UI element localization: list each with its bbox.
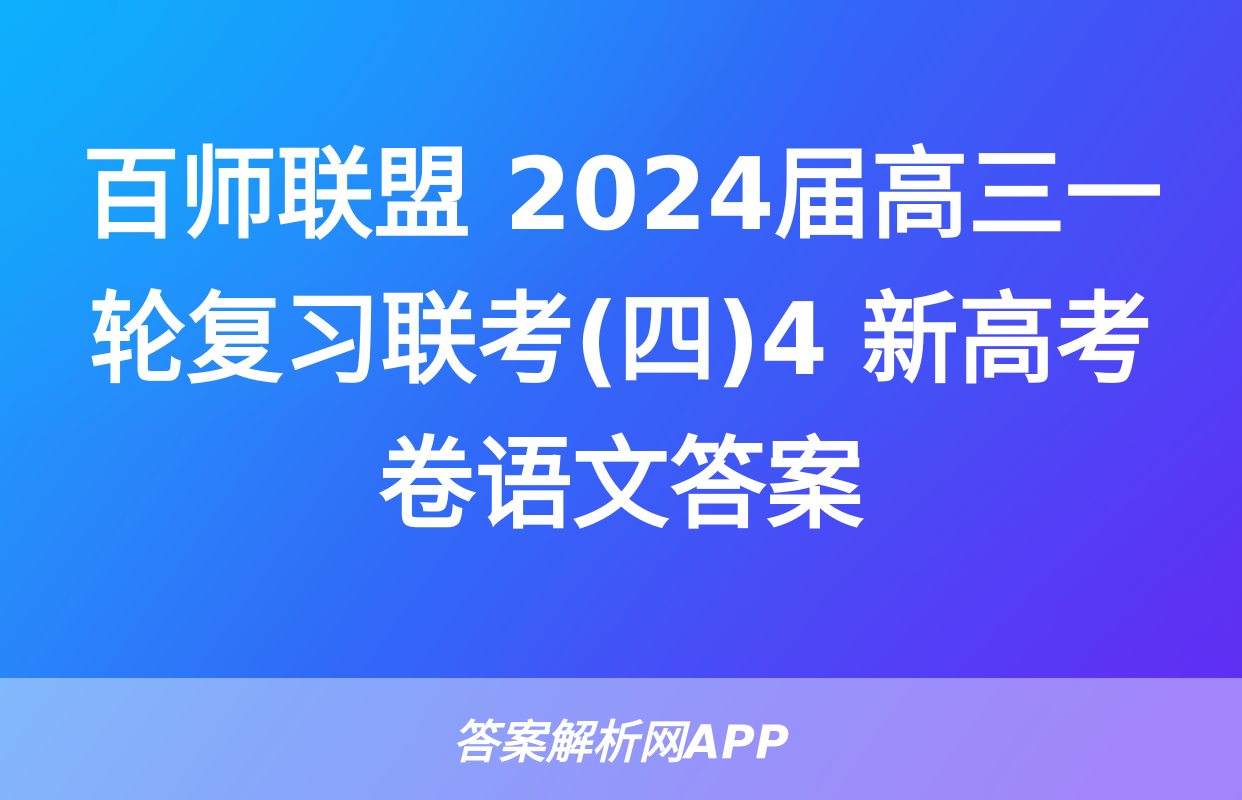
title-block: 百师联盟 2024届高三一 轮复习联考(四)4 新高考 卷语文答案 [0,0,1242,678]
footer-watermark-band: 答案解析网APP [0,678,1242,800]
poster-container: 百师联盟 2024届高三一 轮复习联考(四)4 新高考 卷语文答案 答案解析网A… [0,0,1242,800]
app-watermark-label: 答案解析网APP [452,719,789,765]
title-line-2: 轮复习联考(四)4 新高考 [83,267,1160,412]
title-line-1: 百师联盟 2024届高三一 [83,122,1160,267]
title-line-3: 卷语文答案 [83,412,1160,557]
